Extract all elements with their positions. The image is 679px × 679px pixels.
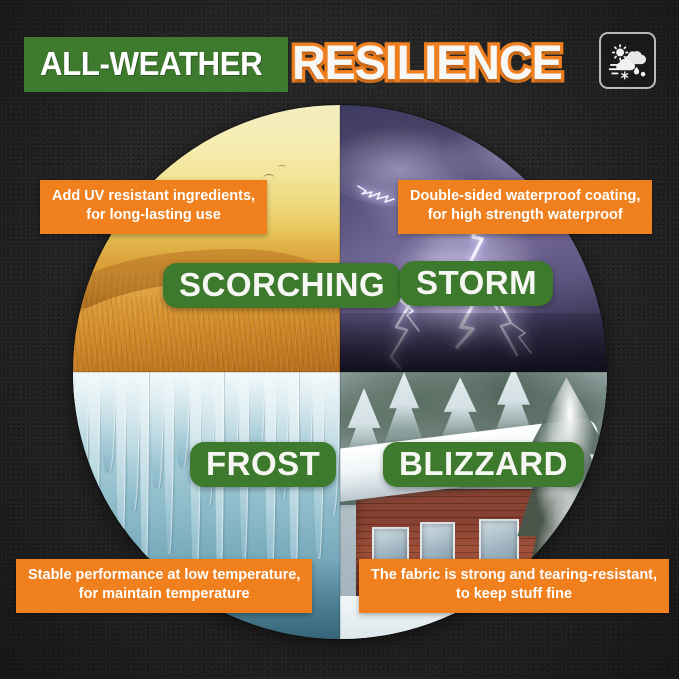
- quadrant-seam-horizontal: [73, 371, 607, 373]
- icicle: [76, 372, 89, 495]
- label-frost: FROST: [190, 442, 336, 487]
- label-storm: STORM: [400, 261, 553, 306]
- icicle: [126, 372, 139, 511]
- label-blizzard: BLIZZARD: [383, 442, 584, 487]
- header-orange-word: RESILIENCE: [284, 31, 578, 97]
- icicle: [174, 372, 190, 468]
- header-green-band: ALL-WEATHER: [24, 37, 288, 92]
- icicle: [150, 372, 163, 489]
- header-title-resilience: RESILIENCE: [292, 40, 562, 88]
- desert-scene: [73, 105, 340, 372]
- icicle: [116, 372, 127, 570]
- sand-ripples-secondary: [73, 297, 340, 372]
- storm-horizon: [340, 313, 607, 372]
- label-scorching: SCORCHING: [163, 263, 401, 308]
- callout-line-2: for high strength waterproof: [410, 206, 640, 225]
- header-title-all-weather: ALL-WEATHER: [40, 45, 262, 83]
- icicle: [164, 372, 175, 554]
- all-weather-resilience-poster: SCORCHING STORM FROST BLIZZARD Add UV re…: [0, 0, 679, 679]
- bird-icon: [263, 174, 275, 179]
- quadrant-scorching: [73, 105, 340, 372]
- callout-line-1: Double-sided waterproof coating,: [410, 187, 640, 206]
- poster-header: ALL-WEATHER RESILIENCE: [24, 30, 656, 98]
- callout-line-2: for maintain temperature: [28, 585, 300, 604]
- callout-line-1: Stable performance at low temperature,: [28, 566, 300, 585]
- callout-line-1: The fabric is strong and tearing-resista…: [371, 566, 657, 585]
- callout-line-2: for long-lasting use: [52, 206, 255, 225]
- callout-line-1: Add UV resistant ingredients,: [52, 187, 255, 206]
- callout-blizzard: The fabric is strong and tearing-resista…: [359, 559, 669, 613]
- lightning-bolt-icon: [356, 180, 396, 214]
- icicle: [89, 372, 100, 548]
- callout-storm: Double-sided waterproof coating, for hig…: [398, 180, 652, 234]
- icicle: [100, 372, 116, 473]
- bird-icon: [278, 164, 286, 168]
- storm-scene: [340, 105, 607, 372]
- callout-scorching: Add UV resistant ingredients, for long-l…: [40, 180, 267, 234]
- callout-frost: Stable performance at low temperature, f…: [16, 559, 312, 613]
- callout-line-2: to keep stuff fine: [371, 585, 657, 604]
- quadrant-storm: [340, 105, 607, 372]
- weather-mixed-icon: [599, 32, 656, 89]
